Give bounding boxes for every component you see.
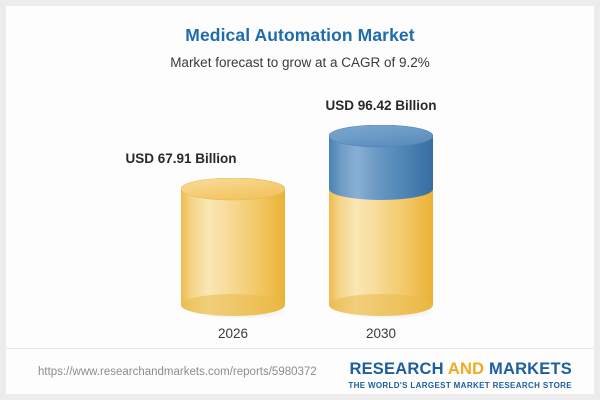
chart-card: Medical Automation Market Market forecas… bbox=[6, 6, 594, 394]
value-label-2030: USD 96.42 Billion bbox=[251, 98, 511, 113]
logo-word-and: AND bbox=[448, 360, 484, 378]
footer-divider bbox=[6, 348, 594, 349]
research-and-markets-logo[interactable]: RESEARCH AND MARKETS THE WORLD'S LARGEST… bbox=[348, 360, 572, 390]
logo-word-research: RESEARCH bbox=[349, 360, 447, 378]
chart-plot-area: USD 67.91 Billion bbox=[6, 6, 594, 346]
report-url[interactable]: https://www.researchandmarkets.com/repor… bbox=[38, 366, 317, 378]
logo-tagline: THE WORLD'S LARGEST MARKET RESEARCH STOR… bbox=[348, 381, 572, 390]
value-label-2026: USD 67.91 Billion bbox=[51, 151, 311, 166]
category-label-2030: 2030 bbox=[251, 326, 511, 341]
bar-cylinder-2026[interactable] bbox=[181, 178, 285, 320]
bar-cylinder-2030[interactable] bbox=[329, 125, 433, 320]
logo-word-markets: MARKETS bbox=[484, 360, 572, 378]
logo-wordmark: RESEARCH AND MARKETS bbox=[348, 360, 572, 379]
